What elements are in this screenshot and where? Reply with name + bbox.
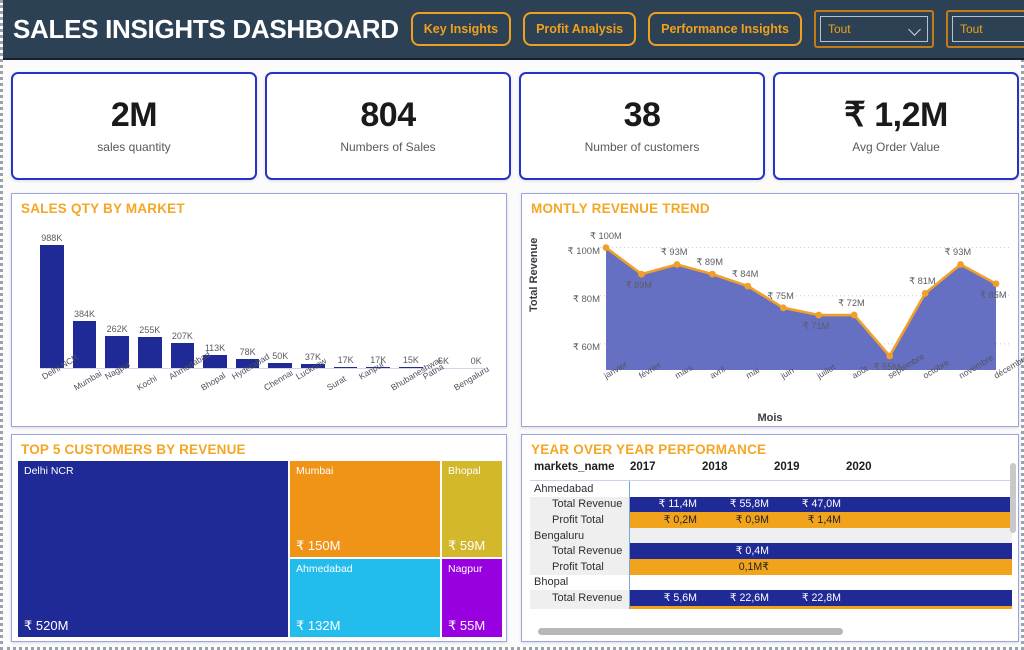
table-column-header[interactable]: 2017	[630, 461, 702, 473]
bar-category-labels: Delhi NCRMumbaiNagpurKochiAhmedabadBhopa…	[40, 371, 500, 433]
table-row[interactable]: Ahmedabad	[530, 481, 1012, 497]
table-cell	[630, 575, 702, 591]
table-cell	[846, 575, 918, 591]
table-cell: ₹ 0,2M	[630, 512, 702, 528]
table-row-cells	[630, 528, 1012, 544]
table-cell: ₹ 22,8M	[774, 590, 846, 606]
treemap-tile-name: Nagpur	[448, 563, 482, 575]
treemap-tile-delhi-ncr[interactable]: Delhi NCR ₹ 520M	[18, 461, 288, 637]
bar-value-label: 0K	[471, 356, 482, 366]
table-cell	[774, 543, 846, 559]
table-cell	[846, 559, 918, 575]
table-header-row: markets_name2017201820192020	[530, 461, 1012, 481]
table-cell	[702, 481, 774, 497]
kpi-value: 38	[624, 98, 661, 134]
table-column-header[interactable]: markets_name	[530, 461, 630, 473]
kpi-value: 804	[360, 98, 415, 134]
slicer-2-container: Tout	[946, 10, 1024, 48]
kpi-label: sales quantity	[97, 140, 170, 154]
trend-y-axis-ticks: ₹ 100M₹ 80M₹ 60M	[544, 238, 600, 356]
kpi-card-avg-order-value[interactable]: ₹ 1,2M Avg Order Value	[773, 72, 1019, 180]
table-row-cells: ₹ 5,6M₹ 22,6M₹ 22,8M	[630, 590, 1012, 606]
table-cell: ₹ 0,7M	[702, 606, 774, 609]
trend-value-label: ₹ 93M	[945, 247, 972, 258]
table-row[interactable]: Bengaluru	[530, 528, 1012, 544]
table-vertical-scrollbar[interactable]	[1010, 463, 1016, 533]
table-row[interactable]: Bhopal	[530, 575, 1012, 591]
bar-column[interactable]: 6K	[432, 231, 456, 369]
trend-value-label: ₹ 89M	[625, 280, 652, 291]
bar-category-label: Bhopal	[199, 370, 227, 392]
table-cell	[846, 606, 918, 609]
table-cell	[846, 512, 918, 528]
slicer-2-dropdown[interactable]: Tout	[952, 16, 1024, 42]
trend-value-label: ₹ 93M	[661, 247, 688, 258]
table-cell	[630, 528, 702, 544]
kpi-card-sales-quantity[interactable]: 2M sales quantity	[11, 72, 257, 180]
table-row-label: Total Revenue	[530, 590, 630, 606]
bar-column[interactable]: 262K	[105, 231, 129, 369]
treemap-tile-value: ₹ 520M	[24, 618, 68, 634]
trend-value-label: ₹ 81M	[909, 276, 936, 287]
table-column-header[interactable]: 2019	[774, 461, 846, 473]
treemap-tile-bhopal[interactable]: Bhopal ₹ 59M	[442, 461, 502, 557]
nav-button-key-insights[interactable]: Key Insights	[411, 12, 511, 47]
table-cell	[774, 528, 846, 544]
bar-column[interactable]: 988K	[40, 231, 64, 369]
bar-column[interactable]: 15K	[399, 231, 423, 369]
table-cell: ₹ 0,9M	[702, 512, 774, 528]
table-row-label: Total Revenue	[530, 543, 630, 559]
kpi-card-row: 2M sales quantity 804 Numbers of Sales 3…	[3, 62, 1024, 186]
chevron-down-icon	[910, 24, 920, 34]
bar-rect[interactable]	[40, 245, 64, 369]
table-cell: ₹ 0,2M	[630, 606, 702, 609]
page-title: SALES INSIGHTS DASHBOARD	[13, 16, 399, 42]
treemap-tile-value: ₹ 132M	[296, 618, 340, 634]
table-row[interactable]: Total Revenue₹ 0,4M	[530, 543, 1012, 559]
bar-column[interactable]: 17K	[334, 231, 358, 369]
trend-chart-plot: Total Revenue ₹ 100M₹ 80M₹ 60M ₹ 100M₹ 8…	[522, 220, 1018, 430]
bar-category-label: Chennai	[262, 368, 295, 393]
table-row[interactable]: Profit Total₹ 0,2M₹ 0,7M₹ 1,3M	[530, 606, 1012, 609]
table-row-label: Bengaluru	[530, 528, 630, 544]
table-cell	[702, 575, 774, 591]
table-row-label: Bhopal	[530, 575, 630, 591]
table-cell	[702, 528, 774, 544]
kpi-label: Number of customers	[585, 140, 700, 154]
bar-value-label: 255K	[139, 325, 160, 335]
table-column-header[interactable]: 2020	[846, 461, 918, 473]
panel-title: SALES QTY BY MARKET	[12, 194, 506, 218]
table-cell	[774, 575, 846, 591]
panel-sales-qty-by-market[interactable]: SALES QTY BY MARKET 988K384K262K255K207K…	[11, 193, 507, 427]
table-row-cells	[630, 481, 1012, 497]
slicer-1-container: Tout	[814, 10, 934, 48]
slicer-2-value: Tout	[960, 22, 983, 36]
slicer-1-dropdown[interactable]: Tout	[820, 16, 928, 42]
bar-column[interactable]: 78K	[236, 231, 260, 369]
bar-value-label: 262K	[107, 324, 128, 334]
treemap-chart: Delhi NCR ₹ 520M Mumbai ₹ 150M Ahmedabad…	[18, 461, 502, 637]
dashboard-page: SALES INSIGHTS DASHBOARD Key Insights Pr…	[0, 0, 1024, 650]
bar-column[interactable]: 37K	[301, 231, 325, 369]
trend-y-tick-label: ₹ 100M	[568, 246, 600, 257]
bar-column[interactable]: 17K	[366, 231, 390, 369]
treemap-tile-name: Ahmedabad	[296, 563, 353, 575]
panel-title: MONTLY REVENUE TREND	[522, 194, 1018, 218]
kpi-card-numbers-of-sales[interactable]: 804 Numbers of Sales	[265, 72, 511, 180]
table-row[interactable]: Total Revenue₹ 5,6M₹ 22,6M₹ 22,8M	[530, 590, 1012, 606]
table-cell	[630, 481, 702, 497]
table-body: AhmedabadTotal Revenue₹ 11,4M₹ 55,8M₹ 47…	[530, 481, 1012, 609]
panel-title: TOP 5 CUSTOMERS BY REVENUE	[12, 435, 506, 459]
trend-value-label: ₹ 72M	[838, 298, 865, 309]
treemap-tile-mumbai[interactable]: Mumbai ₹ 150M	[290, 461, 440, 557]
table-cell	[846, 528, 918, 544]
trend-value-label: ₹ 75M	[767, 291, 794, 302]
table-cell: ₹ 5,6M	[630, 590, 702, 606]
table-row-label: Profit Total	[530, 559, 630, 575]
table-cell	[630, 543, 702, 559]
table-cell	[846, 497, 918, 513]
slicer-1-value: Tout	[828, 22, 851, 36]
kpi-card-number-of-customers[interactable]: 38 Number of customers	[519, 72, 765, 180]
table-cell: ₹ 1,3M	[774, 606, 846, 609]
trend-x-axis-title: Mois	[522, 412, 1018, 424]
table-cell	[630, 559, 702, 575]
bar-category-label: Mumbai	[72, 368, 103, 392]
table-row[interactable]: Profit Total₹ 0,2M₹ 0,9M₹ 1,4M	[530, 512, 1012, 528]
treemap-tile-name: Delhi NCR	[24, 465, 74, 477]
yoy-table: markets_name2017201820192020 AhmedabadTo…	[530, 461, 1012, 637]
treemap-tile-nagpur[interactable]: Nagpur ₹ 55M	[442, 559, 502, 637]
nav-button-profit-analysis[interactable]: Profit Analysis	[523, 12, 636, 47]
table-row-label: Total Revenue	[530, 497, 630, 513]
panel-title: YEAR OVER YEAR PERFORMANCE	[522, 435, 1018, 459]
treemap-tile-name: Bhopal	[448, 465, 481, 477]
table-cell: ₹ 0,4M	[702, 543, 774, 559]
table-row[interactable]: Profit Total0,1M₹	[530, 559, 1012, 575]
nav-button-performance-insights[interactable]: Performance Insights	[648, 12, 802, 47]
table-cell: ₹ 22,6M	[702, 590, 774, 606]
table-row-label: Profit Total	[530, 512, 630, 528]
table-row-label: Profit Total	[530, 606, 630, 609]
table-cell	[846, 590, 918, 606]
table-column-header[interactable]: 2018	[702, 461, 774, 473]
table-row-cells: ₹ 0,4M	[630, 543, 1012, 559]
bar-value-label: 15K	[403, 355, 419, 365]
treemap-tile-value: ₹ 59M	[448, 538, 485, 554]
panel-top-customers-by-revenue[interactable]: TOP 5 CUSTOMERS BY REVENUE Delhi NCR ₹ 5…	[11, 434, 507, 642]
scrollbar-thumb[interactable]	[538, 628, 843, 635]
trend-value-label: ₹ 85M	[980, 290, 1007, 301]
table-row-label: Ahmedabad	[530, 481, 630, 497]
bar-category-label: Surat	[325, 373, 348, 392]
kpi-label: Avg Order Value	[852, 140, 940, 154]
table-cell: ₹ 11,4M	[630, 497, 702, 513]
table-row-cells	[630, 575, 1012, 591]
table-row-cells: ₹ 0,2M₹ 0,7M₹ 1,3M	[630, 606, 1012, 609]
bar-value-label: 17K	[338, 355, 354, 365]
trend-y-tick-label: ₹ 80M	[573, 294, 600, 305]
table-cell: ₹ 47,0M	[774, 497, 846, 513]
bar-value-label: 207K	[172, 331, 193, 341]
table-cell	[846, 543, 918, 559]
panel-year-over-year-performance[interactable]: YEAR OVER YEAR PERFORMANCE markets_name2…	[521, 434, 1019, 642]
treemap-middle-column: Mumbai ₹ 150M Ahmedabad ₹ 132M	[290, 461, 440, 637]
table-row[interactable]: Total Revenue₹ 11,4M₹ 55,8M₹ 47,0M	[530, 497, 1012, 513]
trend-y-axis-title: Total Revenue	[528, 238, 540, 312]
bar-value-label: 384K	[74, 309, 95, 319]
dashboard-header: SALES INSIGHTS DASHBOARD Key Insights Pr…	[3, 0, 1024, 60]
table-cell: ₹ 1,4M	[774, 512, 846, 528]
bar-value-label: 50K	[272, 351, 288, 361]
bar-chart-plot: 988K384K262K255K207K113K78K50K37K17K17K1…	[22, 224, 500, 369]
trend-value-label: ₹ 100M	[590, 231, 622, 242]
table-cell: ₹ 55,8M	[702, 497, 774, 513]
trend-value-label: ₹ 84M	[732, 269, 759, 280]
treemap-tile-ahmedabad[interactable]: Ahmedabad ₹ 132M	[290, 559, 440, 637]
kpi-value: ₹ 1,2M	[844, 98, 948, 134]
treemap-tile-value: ₹ 55M	[448, 618, 485, 634]
panel-monthly-revenue-trend[interactable]: MONTLY REVENUE TREND Total Revenue ₹ 100…	[521, 193, 1019, 427]
bar-column[interactable]: 255K	[138, 231, 162, 369]
bar-column[interactable]: 384K	[73, 231, 97, 369]
bar-value-label: 78K	[240, 347, 256, 357]
table-cell	[774, 481, 846, 497]
bar-column[interactable]: 0K	[464, 231, 488, 369]
treemap-tile-value: ₹ 150M	[296, 538, 340, 554]
kpi-value: 2M	[111, 98, 157, 134]
trend-value-label: ₹ 71M	[803, 321, 830, 332]
bar-value-label: 988K	[41, 233, 62, 243]
bar-rect[interactable]	[138, 337, 162, 369]
trend-value-label: ₹ 89M	[696, 257, 723, 268]
table-row-cells: ₹ 0,2M₹ 0,9M₹ 1,4M	[630, 512, 1012, 528]
table-cell: 0,1M₹	[702, 559, 774, 575]
treemap-tile-name: Mumbai	[296, 465, 333, 477]
table-row-cells: 0,1M₹	[630, 559, 1012, 575]
trend-y-tick-label: ₹ 60M	[573, 342, 600, 353]
table-cell	[774, 559, 846, 575]
table-row-cells: ₹ 11,4M₹ 55,8M₹ 47,0M	[630, 497, 1012, 513]
kpi-label: Numbers of Sales	[340, 140, 435, 154]
bar-column[interactable]: 50K	[268, 231, 292, 369]
treemap-right-column: Bhopal ₹ 59M Nagpur ₹ 55M	[442, 461, 502, 637]
table-horizontal-scrollbar[interactable]	[538, 628, 990, 635]
bar-series: 988K384K262K255K207K113K78K50K37K17K17K1…	[40, 231, 488, 369]
bar-category-label: Kochi	[135, 373, 159, 393]
table-cell	[846, 481, 918, 497]
bar-column[interactable]: 207K	[171, 231, 195, 369]
